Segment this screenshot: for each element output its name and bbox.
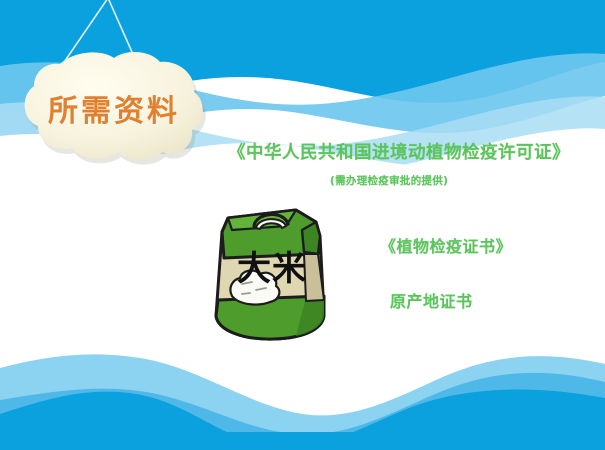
slide-canvas: 所需资料 大米 《中华人民共和国进境动植物检疫许可证》 (需办理检疫审批的提供)…	[0, 0, 605, 450]
bag-label: 大米	[237, 249, 307, 289]
document-title-2: 《植物检疫证书》	[380, 233, 512, 257]
document-title-3: 原产地证书	[390, 288, 473, 312]
document-title-1: 《中华人民共和国进境动植物检疫许可证》	[228, 139, 570, 164]
rice-bag-illustration: 大米	[198, 196, 338, 344]
page-title: 所需资料	[8, 48, 214, 166]
wave-bottom-fill	[0, 432, 605, 450]
document-note-1: (需办理检疫审批的提供)	[330, 173, 448, 188]
